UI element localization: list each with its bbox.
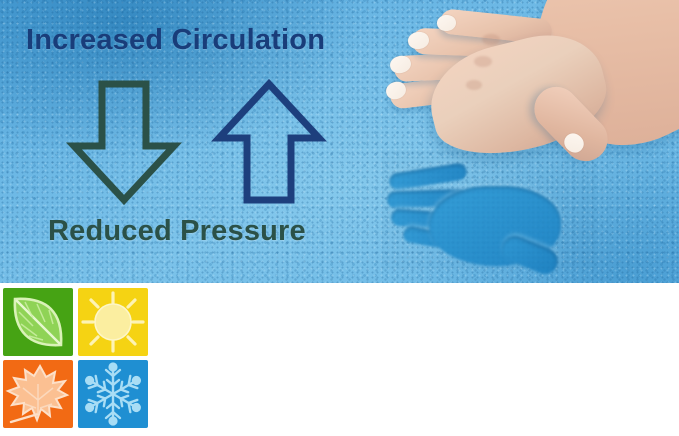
down-arrow-icon (64, 78, 184, 211)
season-tile-autumn (3, 360, 73, 428)
knuckle-crease (466, 80, 482, 90)
season-tile-winter (78, 360, 148, 428)
memory-foam-photo: Increased Circulation Reduced Pressure (0, 0, 679, 283)
up-arrow-icon (209, 78, 329, 211)
season-icon-grid (3, 288, 151, 434)
knuckle-crease (474, 56, 492, 67)
increased-circulation-label: Increased Circulation (26, 24, 325, 57)
hand (378, 0, 679, 200)
feature-banner: 100% GEL-Infused Memory Foam with Temper… (0, 283, 679, 436)
season-tile-summer (78, 288, 148, 356)
season-tile-spring (3, 288, 73, 356)
reduced-pressure-label: Reduced Pressure (48, 215, 306, 248)
knuckle-crease (482, 34, 500, 45)
product-feature-image: Increased Circulation Reduced Pressure (0, 0, 679, 436)
